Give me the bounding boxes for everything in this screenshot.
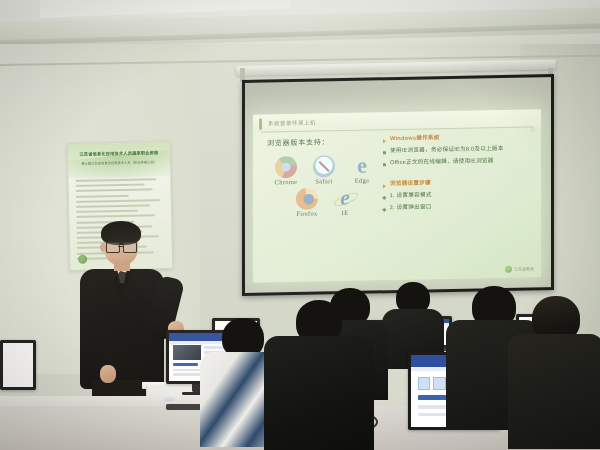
projector-screen: 系统登录环境上机 △ 浏览器版本支持： Chrome bbox=[242, 74, 554, 296]
slide-left-column: 浏览器版本支持： Chrome Safari bbox=[267, 136, 387, 218]
chrome-icon bbox=[275, 156, 297, 178]
student-2 bbox=[296, 300, 374, 450]
edge-label: Edge bbox=[355, 178, 370, 185]
section1-bullet-1: 使用IE浏览器，务必保证IE为8.0及以上版本 bbox=[383, 145, 533, 155]
section1-heading-row: Windows操作系统 bbox=[383, 133, 533, 143]
slide-body: 浏览器版本支持： Chrome Safari bbox=[253, 129, 541, 283]
firefox-label: Firefox bbox=[296, 211, 317, 218]
section1-bullet-1-text: 使用IE浏览器，务必保证IE为8.0及以上版本 bbox=[390, 146, 504, 155]
browser-ie: IE bbox=[326, 187, 364, 218]
student-2-body bbox=[264, 336, 374, 450]
glasses-icon bbox=[106, 242, 137, 251]
presenter-left-hand bbox=[100, 365, 116, 383]
browser-firefox: Firefox bbox=[288, 187, 326, 218]
section1-bullet-2: Office正文的在线编辑，请使用IE浏览器 bbox=[383, 157, 533, 167]
slide-header-title: 系统登录环境上机 bbox=[268, 119, 316, 128]
square-bullet-icon bbox=[383, 163, 386, 166]
slide-right-column: Windows操作系统 使用IE浏览器，务必保证IE为8.0及以上版本 Offi… bbox=[383, 133, 533, 217]
triangle-bullet-icon bbox=[383, 139, 386, 143]
screen-surface: 系统登录环境上机 △ 浏览器版本支持： Chrome bbox=[245, 77, 551, 293]
diamond-bullet-icon bbox=[382, 208, 386, 212]
slide-accent-bar bbox=[259, 118, 262, 129]
section2-bullet-2: 2. 设置弹出窗口 bbox=[383, 202, 533, 212]
browser-row-2: Firefox IE bbox=[267, 186, 385, 218]
section1-bullet-2-text: Office正文的在线编辑，请使用IE浏览器 bbox=[390, 158, 494, 167]
safari-icon bbox=[313, 155, 335, 177]
browser-support-heading: 浏览器版本支持： bbox=[267, 136, 387, 148]
projected-slide: 系统登录环境上机 △ 浏览器版本支持： Chrome bbox=[253, 109, 541, 283]
edge-icon bbox=[351, 154, 373, 176]
section2-bullet-1: 1. 设置兼容模式 bbox=[383, 190, 533, 200]
browser-edge: Edge bbox=[343, 154, 381, 185]
browser-row-1: Chrome Safari Edge bbox=[267, 154, 385, 186]
safari-label: Safari bbox=[315, 178, 332, 185]
firefox-icon bbox=[296, 188, 318, 210]
browser-chrome: Chrome bbox=[267, 156, 305, 187]
monitor-5 bbox=[0, 340, 36, 390]
ie-label: IE bbox=[342, 210, 349, 217]
slide-footer-logo: 江苏省教育 bbox=[505, 265, 534, 273]
section1-heading: Windows操作系统 bbox=[390, 135, 440, 143]
monitor-5-screen bbox=[3, 343, 33, 387]
student-5-body bbox=[508, 334, 600, 449]
cup bbox=[164, 394, 175, 401]
logo-mark-icon bbox=[505, 266, 512, 273]
classroom-photo: 系统登录环境上机 △ 浏览器版本支持： Chrome bbox=[0, 0, 600, 450]
diamond-bullet-icon bbox=[382, 196, 386, 200]
section2-bullet-2-text: 2. 设置弹出窗口 bbox=[390, 204, 432, 212]
triangle-bullet-icon bbox=[383, 184, 386, 188]
browser-icon-grid: Chrome Safari Edge bbox=[267, 154, 385, 218]
section2-heading: 浏览器设置步骤 bbox=[390, 180, 431, 188]
section2-heading-row: 浏览器设置步骤 bbox=[383, 178, 533, 188]
student-5 bbox=[532, 296, 600, 449]
ie-icon bbox=[334, 187, 356, 209]
chrome-label: Chrome bbox=[275, 179, 298, 186]
slide-logo-text: 江苏省教育 bbox=[514, 266, 534, 272]
browser-safari: Safari bbox=[305, 155, 343, 186]
section2-bullet-1-text: 1. 设置兼容模式 bbox=[390, 192, 432, 200]
square-bullet-icon bbox=[383, 151, 386, 154]
